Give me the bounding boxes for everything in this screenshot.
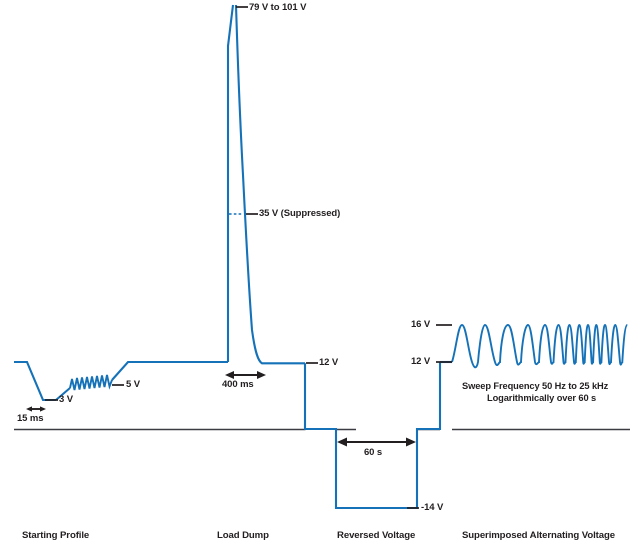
label-start-dip-duration: 15 ms bbox=[17, 413, 43, 424]
voltage-profile-diagram: 79 V to 101 V 35 V (Suppressed) 3 V 5 V … bbox=[0, 0, 641, 547]
waveform-load-dump-rise bbox=[228, 5, 233, 362]
waveform-ramp-to-nominal bbox=[112, 362, 228, 380]
label-ac-lower-voltage: 12 V bbox=[411, 356, 430, 367]
label-sweep-frequency-line1: Sweep Frequency 50 Hz to 25 kHz bbox=[462, 380, 608, 392]
section-label-reversed-voltage: Reversed Voltage bbox=[337, 530, 415, 541]
section-label-load-dump: Load Dump bbox=[217, 530, 269, 541]
waveform-starting-dip bbox=[14, 362, 56, 400]
label-reverse-voltage: -14 V bbox=[421, 502, 443, 513]
waveform-load-dump-decay bbox=[236, 5, 305, 363]
label-start-dip-voltage: 3 V bbox=[59, 394, 73, 405]
label-reverse-duration: 60 s bbox=[364, 447, 382, 458]
label-ripple-voltage: 5 V bbox=[126, 379, 140, 390]
section-label-starting-profile: Starting Profile bbox=[22, 530, 89, 541]
dimension-400ms bbox=[225, 371, 266, 379]
label-load-dump-duration: 400 ms bbox=[222, 379, 254, 390]
section-label-superimposed-ac: Superimposed Alternating Voltage bbox=[462, 530, 615, 541]
dimension-60s bbox=[337, 438, 416, 447]
label-nominal-voltage: 12 V bbox=[319, 357, 338, 368]
label-ac-upper-voltage: 16 V bbox=[411, 319, 430, 330]
waveform-ripple-5v bbox=[70, 375, 112, 390]
waveform-reversed-voltage bbox=[305, 362, 440, 508]
label-load-dump-suppressed: 35 V (Suppressed) bbox=[259, 208, 340, 219]
waveform-canvas bbox=[0, 0, 641, 547]
dimension-15ms bbox=[26, 406, 46, 411]
waveform-ac-oscillation bbox=[452, 325, 627, 367]
label-sweep-frequency-line2: Logarithmically over 60 s bbox=[487, 392, 596, 404]
label-load-dump-peak: 79 V to 101 V bbox=[249, 2, 306, 13]
